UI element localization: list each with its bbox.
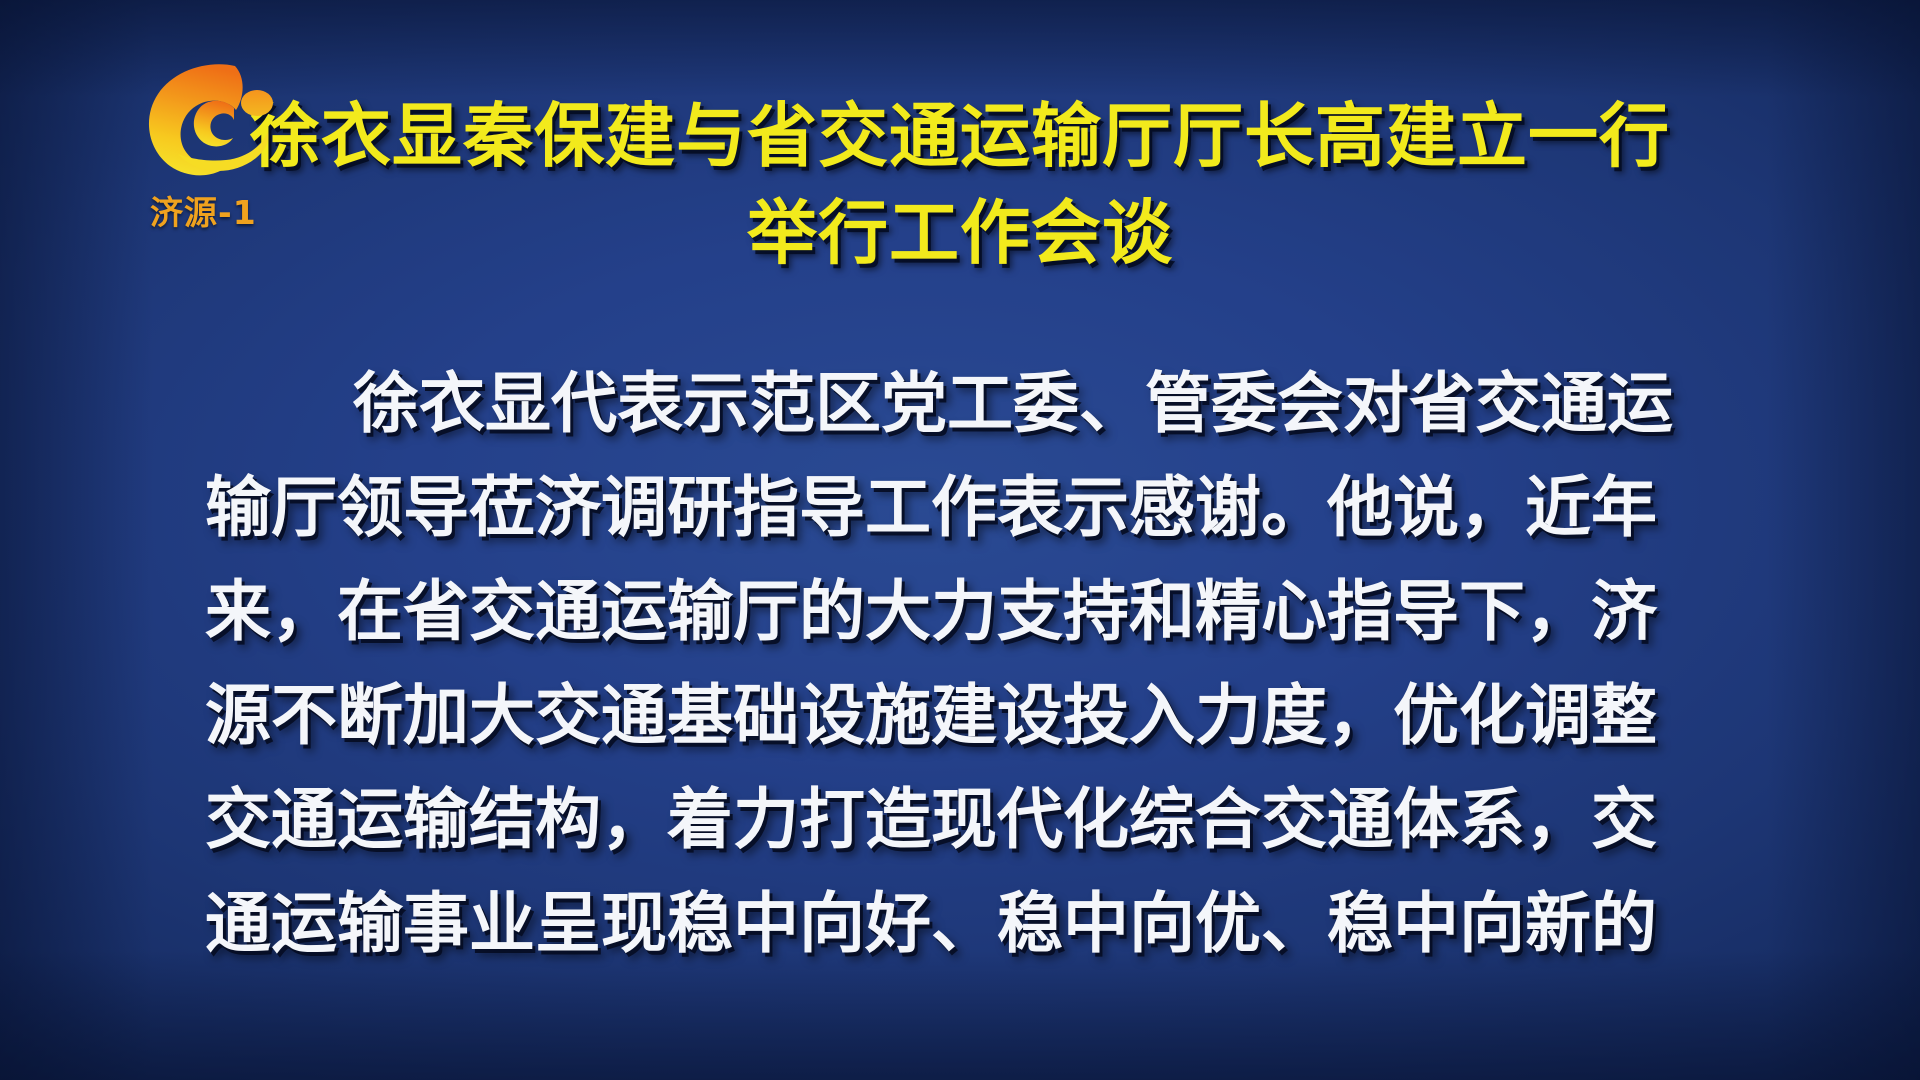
body-line-4: 源不断加大交通基础设施建设投入力度，优化调整 xyxy=(205,664,1730,768)
jiyuan-swirl-logo-icon xyxy=(138,58,298,188)
body-line-1: 徐衣显代表示范区党工委、管委会对省交通运 xyxy=(205,352,1730,456)
body-line-6: 通运输事业呈现稳中向好、稳中向优、稳中向新的 xyxy=(205,872,1730,976)
body-paragraph: 徐衣显代表示范区党工委、管委会对省交通运 输厅领导莅济调研指导工作表示感谢。他说… xyxy=(205,352,1730,976)
body-line-5: 交通运输结构，着力打造现代化综合交通体系，交 xyxy=(205,768,1730,872)
channel-logo: 济源-1 xyxy=(138,58,328,243)
body-line-2: 输厅领导莅济调研指导工作表示感谢。他说，近年 xyxy=(205,456,1730,560)
body-line-3: 来，在省交通运输厅的大力支持和精心指导下，济 xyxy=(205,560,1730,664)
channel-logo-caption: 济源-1 xyxy=(150,186,257,234)
broadcast-text-card: 济源-1 徐衣显秦保建与省交通运输厅厅长高建立一行 举行工作会谈 徐衣显代表示范… xyxy=(0,0,1920,1080)
